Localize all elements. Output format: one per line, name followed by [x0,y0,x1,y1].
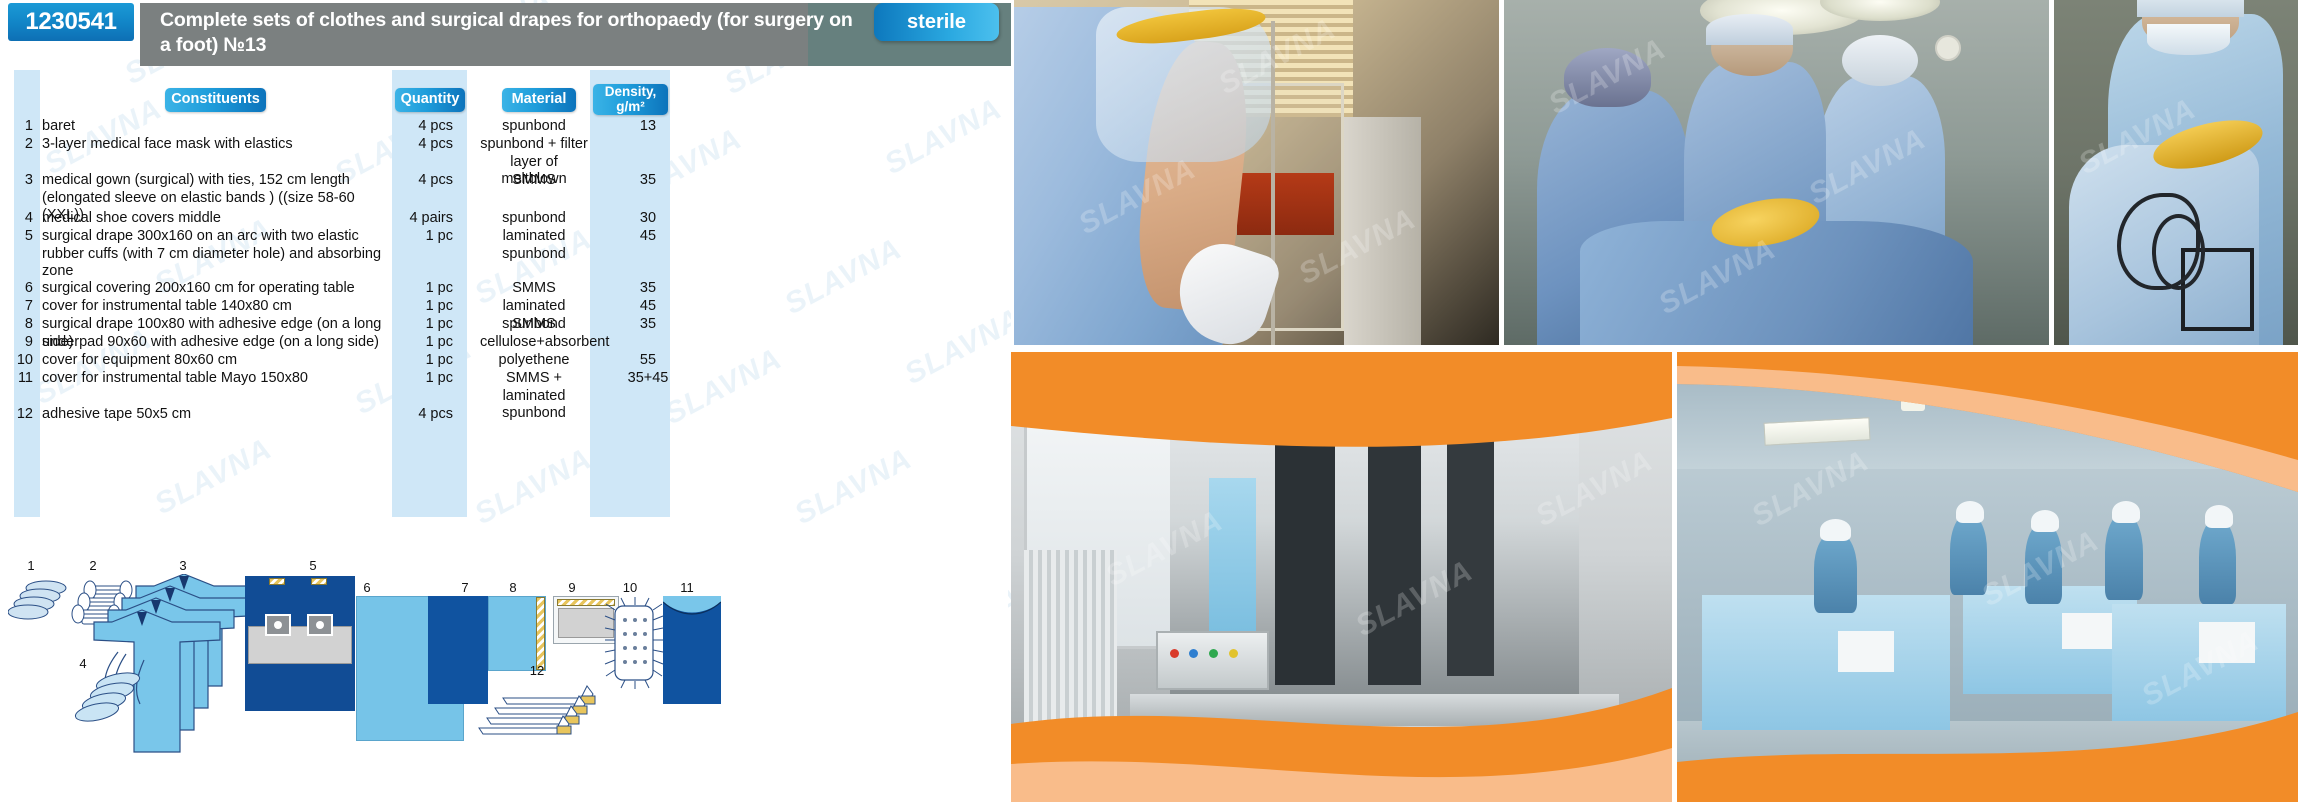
adhesive-strip [311,578,327,585]
illustration-label-3: 3 [168,558,198,573]
adhesive-edge [536,597,545,670]
row-number: 2 [0,136,40,152]
adhesive-strip [269,578,285,585]
illustration-label-8: 8 [498,580,528,595]
table-row: 6surgical covering 200x160 cm for operat… [0,280,700,298]
row-material: SMMS [470,316,588,334]
table-row: 10cover for equipment 80x60 cm1 pcpolyet… [0,352,700,370]
row-density: 35+45 [588,370,698,386]
row-constituent-name: cover for instrumental table Mayo 150x80 [40,370,385,388]
row-material: spunbond [470,210,588,228]
row-material: spunbond [470,118,588,136]
row-number: 7 [0,298,40,314]
illustration-label-2: 2 [78,558,108,573]
watermark: SLAVNA [879,92,1007,182]
row-quantity: 1 pc [385,334,470,350]
row-density: 35 [588,280,698,296]
row-material: SMMS [470,280,588,298]
photo-production-machine: SLAVNA SLAVNA SLAVNA [1011,352,1672,802]
row-number: 1 [0,118,40,134]
photo-operating-team: SLAVNA SLAVNA SLAVNA [1504,0,2049,345]
row-constituent-name: adhesive tape 50x5 cm [40,406,385,424]
column-header-density-unit: g/m² [616,100,645,114]
column-header-density-label: Density, [605,85,657,99]
table-row: 12adhesive tape 50x5 cm4 pcs [0,406,700,424]
row-constituent-name: 3-layer medical face mask with elastics [40,136,385,154]
arc-drape-illustration [245,576,355,711]
page-title: Complete sets of clothes and surgical dr… [160,8,860,58]
row-number: 8 [0,316,40,332]
column-header-quantity: Quantity [395,88,465,112]
sterile-badge: sterile [874,3,999,41]
row-number: 9 [0,334,40,350]
row-number: 3 [0,172,40,188]
adhesive-tape-illustration [473,680,603,742]
row-quantity: 1 pc [385,298,470,314]
row-constituent-name: surgical drape 300x160 on an arc with tw… [40,228,385,281]
watermark: SLAVNA [779,232,907,322]
row-quantity: 4 pcs [385,118,470,134]
row-quantity: 1 pc [385,316,470,332]
row-density: 35 [588,172,698,188]
row-quantity: 4 pcs [385,136,470,152]
row-quantity: 4 pairs [385,210,470,226]
column-header-constituents: Constituents [165,88,266,112]
row-density: 45 [588,298,698,314]
illustration-label-7: 7 [450,580,480,595]
row-density: 35 [588,316,698,332]
row-number: 11 [0,370,40,386]
illustration-label-6: 6 [352,580,382,595]
row-constituent-name: underpad 90x60 with adhesive edge (on a … [40,334,385,352]
row-constituent-name: surgical covering 200x160 cm for operati… [40,280,385,298]
watermark: SLAVNA [899,302,1011,392]
row-number: 6 [0,280,40,296]
table-row: 4medical shoe covers middle4 pairsspunbo… [0,210,700,228]
illustration-label-12: 12 [522,663,552,678]
column-header-density: Density, g/m² [593,84,668,115]
row-constituent-name: baret [40,118,385,136]
row-quantity: 1 pc [385,370,470,386]
row-constituent-name: medical shoe covers middle [40,210,385,228]
row-quantity: 1 pc [385,352,470,368]
illustration-label-1: 1 [16,558,46,573]
watermark: SLAVNA [149,432,277,522]
specification-panel: SLAVNA SLAVNA SLAVNA SLAVNA SLAVNA SLAVN… [0,0,1011,802]
row-number: 10 [0,352,40,368]
rubber-cuff-icon [307,614,333,636]
row-number: 12 [0,406,40,422]
row-material: polyethene [470,352,588,370]
row-material: cellulose+absorbent [470,334,588,352]
row-constituent-name: cover for instrumental table 140x80 cm [40,298,385,316]
illustration-label-5: 5 [298,558,328,573]
photo-production-workshop: SLAVNA SLAVNA SLAVNA [1677,352,2298,802]
row-density: 55 [588,352,698,368]
absorbing-zone [248,626,352,664]
rubber-cuff-icon [265,614,291,636]
row-quantity: 4 pcs [385,172,470,188]
mayo-cover-top [663,596,721,626]
illustration-label-9: 9 [557,580,587,595]
photo-leg-with-drape: SLAVNA SLAVNA SLAVNA [1014,0,1499,345]
shoe-cover-illustration [70,672,150,728]
row-material: SMMS [470,172,588,190]
row-quantity: 1 pc [385,228,470,244]
row-number: 4 [0,210,40,226]
table-row: 1baret4 pcsspunbond13 [0,118,700,136]
table-row: 5surgical drape 300x160 on an arc with t… [0,228,700,281]
column-header-material: Material [502,88,576,112]
product-spec-page: SLAVNA SLAVNA SLAVNA SLAVNA SLAVNA SLAVN… [0,0,2298,802]
row-number: 5 [0,228,40,244]
row-density: 45 [588,228,698,244]
mayo-table-cover-illustration [663,596,721,704]
illustration-strip: 1 2 [8,558,1008,802]
row-constituent-name: cover for equipment 80x60 cm [40,352,385,370]
illustration-label-4: 4 [68,656,98,671]
photo-surgeon-holding-drape: SLAVNA [2054,0,2298,345]
photo-gallery: SLAVNA SLAVNA SLAVNA SLAVNA SLAVNA SLAVN… [1011,0,2298,802]
illustration-label-11: 11 [672,580,702,595]
row-density: 13 [588,118,698,134]
adhesive-drape-illustration [488,596,546,671]
beret-illustration [8,576,70,622]
equipment-cover-illustration [603,596,665,690]
watermark: SLAVNA [469,442,597,532]
row-quantity: 1 pc [385,280,470,296]
row-material: laminated spunbond [470,228,588,263]
table-row: 9underpad 90x60 with adhesive edge (on a… [0,334,700,352]
watermark: SLAVNA [789,442,917,532]
illustration-label-10: 10 [615,580,645,595]
product-code-badge: 1230541 [8,3,134,41]
row-quantity: 4 pcs [385,406,470,422]
row-density: 30 [588,210,698,226]
